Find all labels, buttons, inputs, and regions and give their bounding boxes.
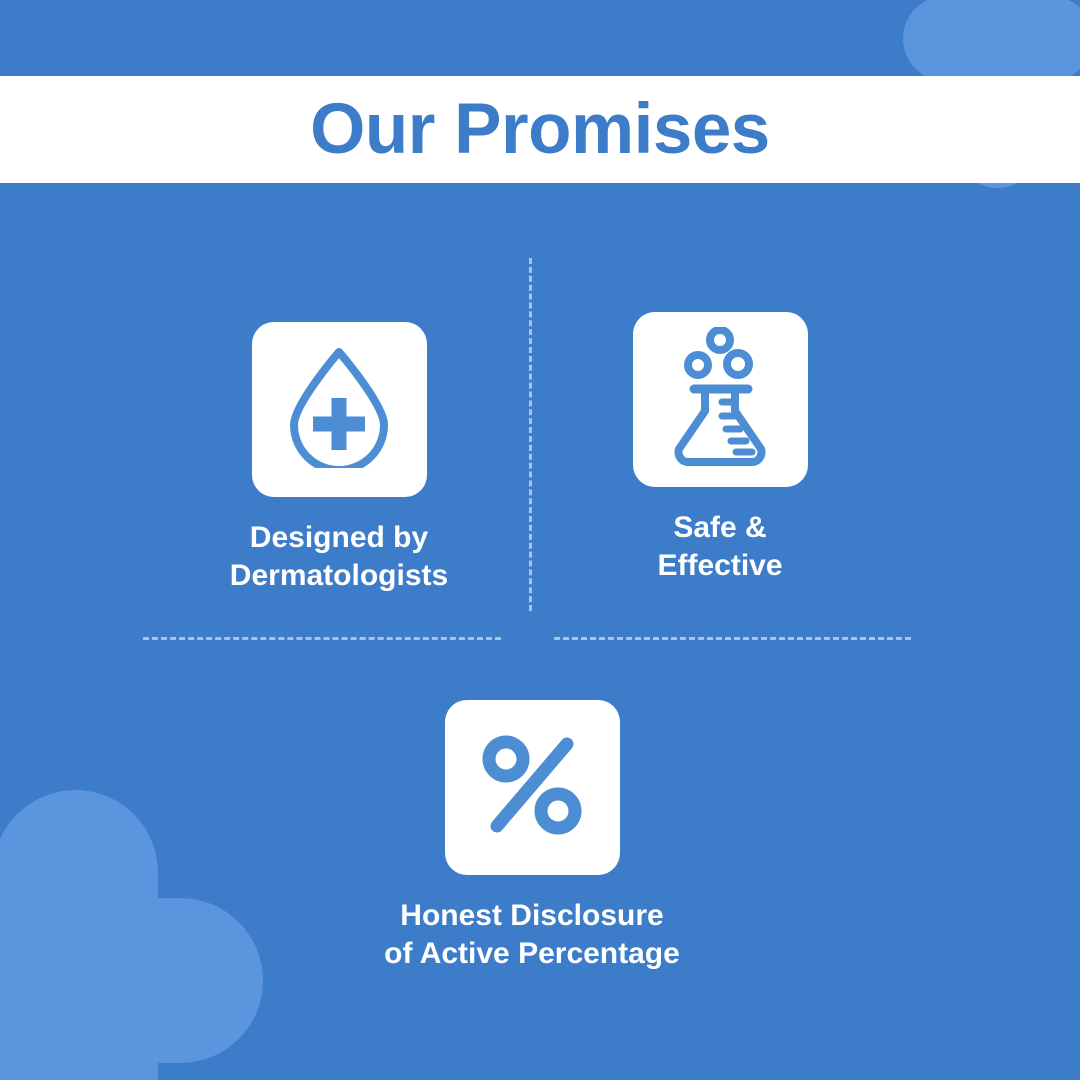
- cross-vertical-bar: [0, 790, 158, 1080]
- cross-horizontal-bar: [0, 898, 263, 1063]
- promise-label: Designed by Dermatologists: [230, 519, 448, 596]
- title-band: Our Promises: [0, 76, 1080, 183]
- promise-icon-card: [633, 312, 808, 487]
- divider-horizontal-left: [143, 637, 501, 640]
- promise-label: Safe & Effective: [657, 509, 782, 586]
- percent-icon: [477, 730, 587, 845]
- lab-flask-icon: [664, 327, 776, 472]
- divider-horizontal-right: [554, 637, 911, 640]
- promise-icon-card: [445, 700, 620, 875]
- promise-label: Honest Disclosure of Active Percentage: [384, 897, 680, 974]
- cross-shape-bottom-left-icon: [0, 790, 263, 1080]
- water-drop-plus-icon: [280, 346, 398, 473]
- promise-icon-card: [252, 322, 427, 497]
- page-title: Our Promises: [310, 94, 770, 165]
- cross-horizontal-bar: [903, 0, 1080, 81]
- promise-item-designed-by-dermatologists: Designed by Dermatologists: [150, 322, 528, 596]
- promise-item-safe-and-effective: Safe & Effective: [552, 312, 888, 586]
- divider-vertical: [529, 258, 532, 611]
- promises-infographic: Our Promises Designed by Dermatologists: [0, 0, 1080, 1080]
- promise-item-honest-disclosure: Honest Disclosure of Active Percentage: [332, 700, 732, 974]
